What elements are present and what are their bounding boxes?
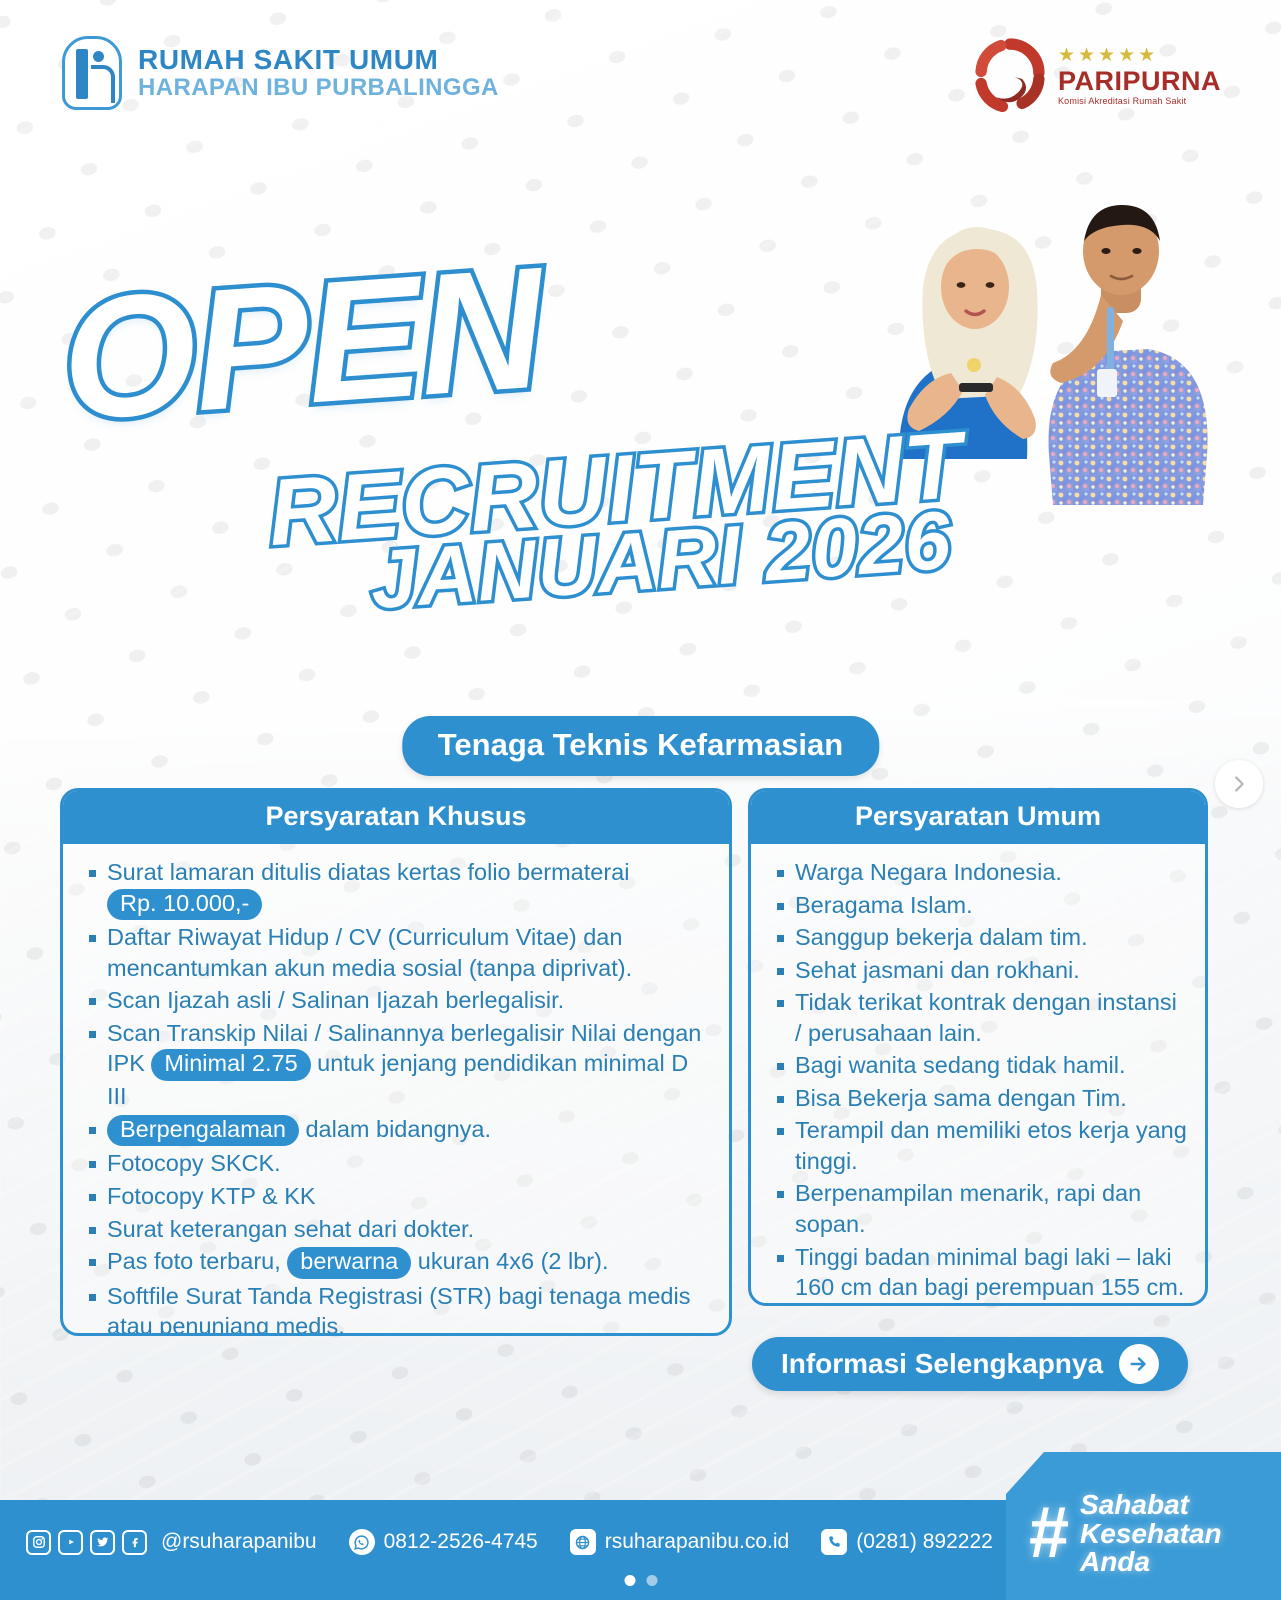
website-url: rsuharapanibu.co.id — [605, 1530, 789, 1554]
requirement-text: Surat lamaran ditulis diatas kertas foli… — [107, 859, 629, 885]
requirement-text: Warga Negara Indonesia. — [795, 859, 1062, 885]
tagline-line1: Sahabat — [1080, 1491, 1222, 1520]
panel-khusus-title: Persyaratan Khusus — [63, 791, 729, 844]
requirement-item: Tinggi badan minimal bagi laki – laki 16… — [769, 1242, 1189, 1303]
requirement-text: Bagi wanita sedang tidak hamil. — [795, 1052, 1126, 1078]
hospital-logo-block: RUMAH SAKIT UMUM HARAPAN IBU PURBALINGGA — [62, 36, 499, 110]
panel-persyaratan-khusus: Persyaratan Khusus Surat lamaran ditulis… — [60, 788, 732, 1336]
carousel-dot-2[interactable] — [646, 1575, 657, 1586]
requirement-item: Warga Negara Indonesia. — [769, 857, 1189, 888]
requirement-text: Sanggup bekerja dalam tim. — [795, 924, 1088, 950]
accreditation-stars: ★★★★★ — [1058, 46, 1158, 65]
title-open: OPEN — [57, 241, 547, 446]
highlight-pill: berwarna — [287, 1247, 411, 1279]
hospital-name-line2: HARAPAN IBU PURBALINGGA — [138, 75, 499, 102]
chevron-right-icon — [1228, 773, 1250, 795]
hashtag-icon: # — [1028, 1505, 1068, 1563]
footer-contact-items: @rsuharapanibu 0812-2526-4745 — [0, 1492, 1025, 1592]
requirement-text: Pas foto terbaru, — [107, 1248, 287, 1274]
requirement-item: Sehat jasmani dan rokhani. — [769, 955, 1189, 986]
requirement-text: Berpenampilan menarik, rapi dan sopan. — [795, 1180, 1141, 1237]
phone-number: (0281) 892222 — [856, 1530, 993, 1554]
requirement-text: Daftar Riwayat Hidup / CV (Curriculum Vi… — [107, 924, 632, 981]
requirement-item: Beragama Islam. — [769, 890, 1189, 921]
panel-umum-body: Warga Negara Indonesia.Beragama Islam.Sa… — [751, 844, 1205, 1306]
youtube-icon[interactable] — [58, 1530, 83, 1555]
tagline-block: # Sahabat Kesehatan Anda — [1006, 1452, 1281, 1600]
whatsapp-contact: 0812-2526-4745 — [349, 1529, 538, 1555]
requirement-item: Scan Ijazah asli / Salinan Ijazah berleg… — [81, 985, 713, 1016]
requirement-text: Tinggi badan minimal bagi laki – laki 16… — [795, 1244, 1184, 1301]
facebook-icon[interactable] — [122, 1530, 147, 1555]
logo-dot — [93, 51, 104, 62]
highlight-pill: Minimal 2.75 — [151, 1049, 310, 1081]
cta-label: Informasi Selengkapnya — [781, 1348, 1103, 1380]
khusus-requirement-list: Surat lamaran ditulis diatas kertas foli… — [81, 857, 713, 1336]
carousel-dots — [624, 1575, 657, 1586]
umum-requirement-list: Warga Negara Indonesia.Beragama Islam.Sa… — [769, 857, 1189, 1303]
website-contact: rsuharapanibu.co.id — [570, 1529, 789, 1555]
requirement-text: Surat keterangan sehat dari dokter. — [107, 1216, 474, 1242]
tagline-line2: Kesehatan — [1080, 1520, 1222, 1549]
requirement-text: Scan Ijazah asli / Salinan Ijazah berleg… — [107, 987, 564, 1013]
requirement-item: Pas foto terbaru, berwarna ukuran 4x6 (2… — [81, 1246, 713, 1279]
requirement-item: Scan Transkip Nilai / Salinannya berlega… — [81, 1018, 713, 1112]
twitter-icon[interactable] — [90, 1530, 115, 1555]
carousel-dot-1[interactable] — [624, 1575, 635, 1586]
panel-umum-title: Persyaratan Umum — [751, 791, 1205, 844]
requirement-item: Surat keterangan sehat dari dokter. — [81, 1214, 713, 1245]
hospital-name-line1: RUMAH SAKIT UMUM — [138, 44, 499, 75]
position-badge: Tenaga Teknis Kefarmasian — [402, 716, 879, 776]
requirement-text: Fotocopy KTP & KK — [107, 1183, 316, 1209]
accreditation-subtitle: Komisi Akreditasi Rumah Sakit — [1058, 96, 1186, 106]
whatsapp-icon — [349, 1529, 375, 1555]
requirement-item: Bagi wanita sedang tidak hamil. — [769, 1050, 1189, 1081]
whatsapp-number: 0812-2526-4745 — [384, 1530, 538, 1554]
requirement-text: Bisa Bekerja sama dengan Tim. — [795, 1085, 1127, 1111]
tagline-text: Sahabat Kesehatan Anda — [1080, 1491, 1222, 1577]
accreditation-name: PARIPURNA — [1058, 67, 1221, 95]
requirement-text: Fotocopy SKCK. — [107, 1150, 281, 1176]
requirement-item: Bisa Bekerja sama dengan Tim. — [769, 1083, 1189, 1114]
requirement-item: Berpenampilan menarik, rapi dan sopan. — [769, 1178, 1189, 1239]
panel-persyaratan-umum: Persyaratan Umum Warga Negara Indonesia.… — [748, 788, 1208, 1306]
accreditation-text: ★★★★★ PARIPURNA Komisi Akreditasi Rumah … — [1058, 46, 1221, 106]
kars-q-mark-icon — [972, 38, 1048, 114]
requirement-item: Berpengalaman dalam bidangnya. — [81, 1114, 713, 1147]
requirement-item: Fotocopy SKCK. — [81, 1148, 713, 1179]
requirement-item: Surat lamaran ditulis diatas kertas foli… — [81, 857, 713, 920]
requirement-text: ukuran 4x6 (2 lbr). — [411, 1248, 608, 1274]
requirement-item: Tidak terikat kontrak dengan instansi / … — [769, 987, 1189, 1048]
carousel-next-button[interactable] — [1215, 760, 1263, 808]
recruitment-poster: RUMAH SAKIT UMUM HARAPAN IBU PURBALINGGA… — [0, 0, 1281, 1600]
requirement-item: Softfile Surat Tanda Registrasi (STR) ba… — [81, 1281, 713, 1336]
phone-contact: (0281) 892222 — [821, 1529, 993, 1555]
requirement-text: Tidak terikat kontrak dengan instansi / … — [795, 989, 1177, 1046]
highlight-pill: Berpengalaman — [107, 1115, 299, 1147]
requirement-item: Fotocopy KTP & KK — [81, 1181, 713, 1212]
requirement-item: Sanggup bekerja dalam tim. — [769, 922, 1189, 953]
highlight-pill: Rp. 10.000,- — [107, 889, 262, 921]
requirement-text: Beragama Islam. — [795, 892, 973, 918]
requirement-item: Daftar Riwayat Hidup / CV (Curriculum Vi… — [81, 922, 713, 983]
requirement-text: Softfile Surat Tanda Registrasi (STR) ba… — [107, 1283, 690, 1336]
accreditation-badge: ★★★★★ PARIPURNA Komisi Akreditasi Rumah … — [972, 38, 1221, 114]
requirement-text: Terampil dan memiliki etos kerja yang ti… — [795, 1117, 1187, 1174]
hospital-h-logo-icon — [62, 36, 122, 110]
tagline-line3: Anda — [1080, 1548, 1222, 1577]
arrow-right-icon — [1119, 1344, 1159, 1384]
panel-khusus-body: Surat lamaran ditulis diatas kertas foli… — [63, 844, 729, 1336]
instagram-icon[interactable] — [26, 1530, 51, 1555]
social-icons-row — [26, 1530, 147, 1555]
social-handle: @rsuharapanibu — [161, 1530, 317, 1554]
requirement-text: dalam bidangnya. — [299, 1116, 491, 1142]
globe-icon — [570, 1529, 596, 1555]
phone-icon — [821, 1529, 847, 1555]
social-handle-text: @rsuharapanibu — [161, 1530, 317, 1554]
requirement-text: Sehat jasmani dan rokhani. — [795, 957, 1080, 983]
poster-header: RUMAH SAKIT UMUM HARAPAN IBU PURBALINGGA… — [0, 0, 1281, 150]
requirement-item: Terampil dan memiliki etos kerja yang ti… — [769, 1115, 1189, 1176]
hospital-name: RUMAH SAKIT UMUM HARAPAN IBU PURBALINGGA — [138, 44, 499, 102]
informasi-selengkapnya-button[interactable]: Informasi Selengkapnya — [752, 1337, 1188, 1391]
